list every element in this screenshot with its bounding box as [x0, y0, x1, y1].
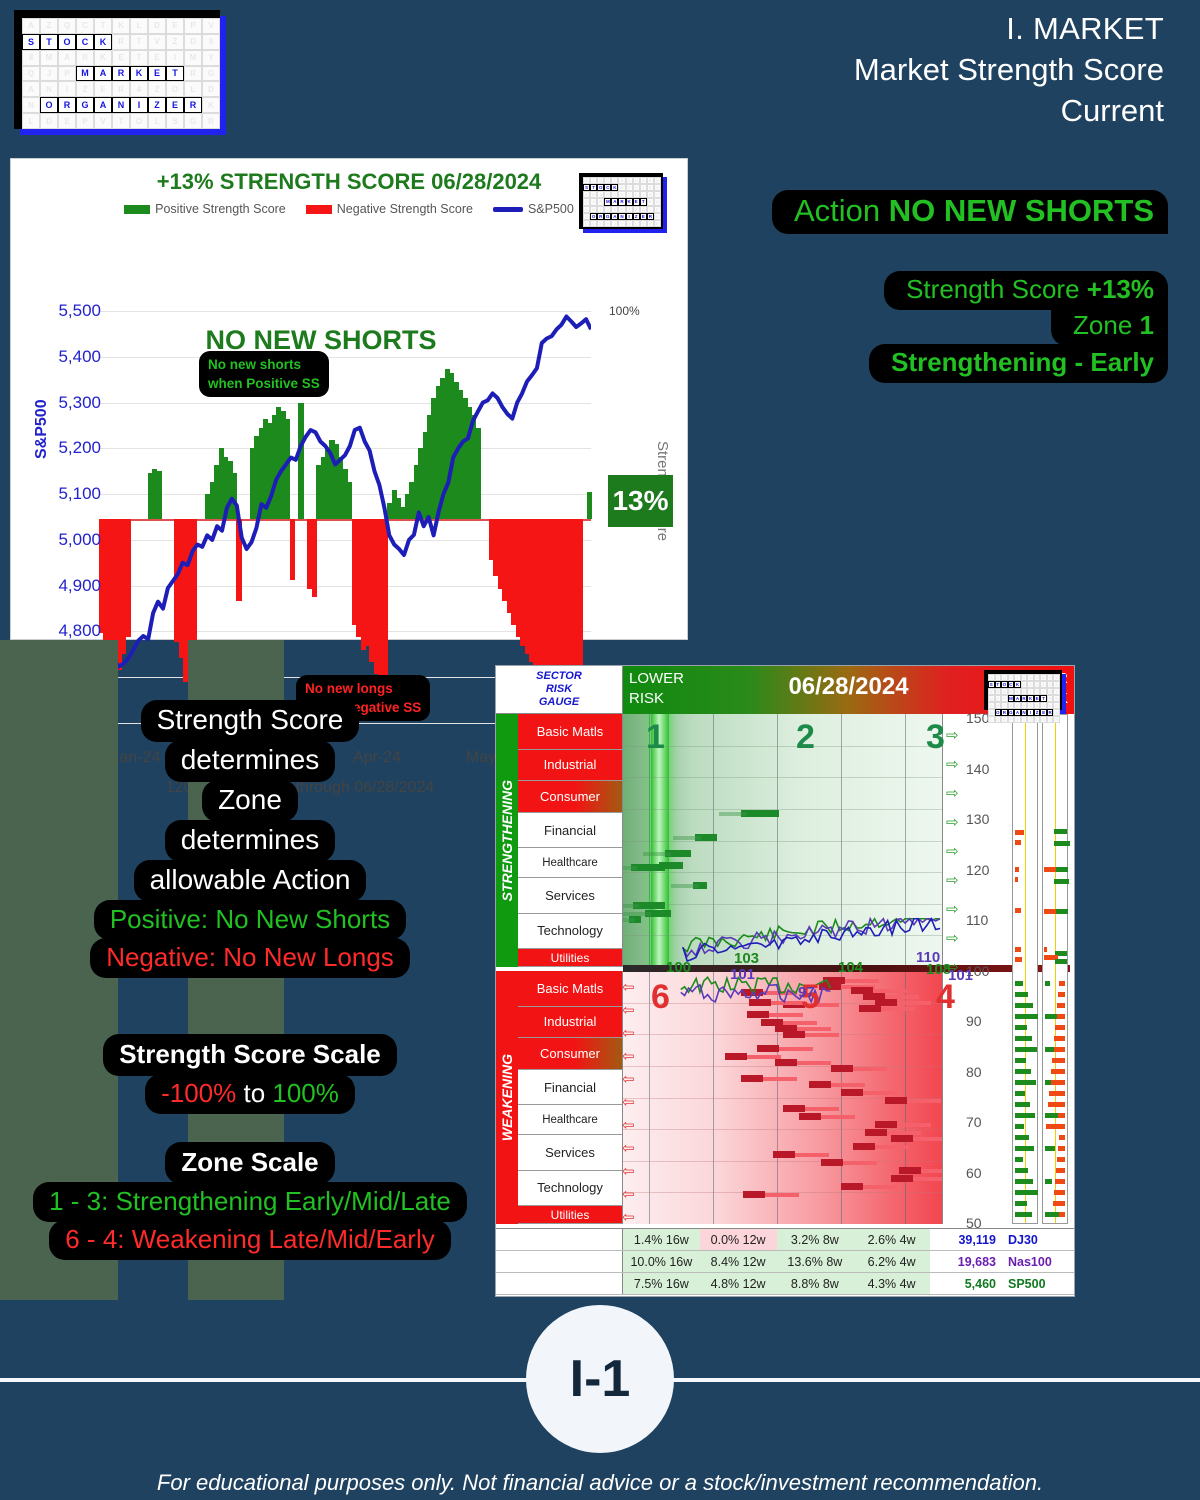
- logo-cell: T: [130, 34, 148, 50]
- logo-cell: 9: [654, 184, 661, 191]
- gauge-mini-bar: [1059, 1135, 1065, 1140]
- logo-cell: M: [184, 50, 202, 66]
- gauge-mini-bar: [1054, 829, 1067, 834]
- logo-cell: T: [611, 177, 618, 184]
- logo-cell: E: [58, 113, 76, 129]
- gauge-mini-bar: [1015, 1190, 1038, 1195]
- gauge-sector-label: Utilities: [518, 1206, 623, 1224]
- gauge-index-lines-bottom: [623, 971, 942, 1224]
- logo-cell: R: [184, 97, 202, 113]
- gauge-mini-bar: [1048, 1102, 1065, 1107]
- chart-y2-tick: 100%: [609, 304, 640, 318]
- chart-y-tick: 5,500: [31, 301, 101, 321]
- logo-cell: M: [40, 50, 58, 66]
- logo-cell: Q: [58, 18, 76, 34]
- logo-cell: K: [611, 184, 618, 191]
- logo-cell: T: [590, 184, 597, 191]
- gauge-mini-bar: [1044, 947, 1047, 952]
- logo-cell: N: [40, 81, 58, 97]
- gauge-mini-bar: [1015, 867, 1019, 872]
- strength-score-label: Strength Score: [906, 274, 1079, 304]
- logo-cell: R: [618, 184, 625, 191]
- logo-cell: A: [94, 66, 112, 82]
- logo-cell: 9: [202, 34, 220, 50]
- page-title: Market Strength Score: [854, 49, 1164, 90]
- gauge-table-cell: 4.3% 4w: [853, 1273, 930, 1294]
- gauge-arrow-right-icon: ⇨: [946, 844, 959, 859]
- logo-cell: O: [597, 184, 604, 191]
- gauge-mini-gridline: [1055, 715, 1056, 1223]
- gauge-arrow-right-icon: ⇨: [946, 786, 959, 801]
- logo-cell: O: [590, 213, 597, 220]
- gauge-plot-weakening: [623, 971, 943, 1224]
- action-value: NO NEW SHORTS: [889, 193, 1154, 228]
- ss-scale-title: Strength Score Scale: [103, 1034, 397, 1076]
- gauge-table-cell: 8.8% 8w: [777, 1273, 854, 1294]
- logo-cell: D: [184, 34, 202, 50]
- logo-cell: E: [94, 81, 112, 97]
- gauge-table-cell: 8.4% 12w: [700, 1251, 777, 1272]
- logo-cell: D: [148, 18, 166, 34]
- logo-cell: R: [76, 50, 94, 66]
- chart-y-tick: 4,800: [31, 621, 101, 641]
- positive-rule-prefix: Positive:: [110, 904, 216, 934]
- logo-cell: Z: [148, 81, 166, 97]
- gauge-sector-label: Financial: [518, 1070, 623, 1106]
- gauge-table-row: 10.0% 16w8.4% 12w13.6% 8w6.2% 4w19,683Na…: [496, 1251, 1074, 1273]
- gauge-inline-value: 101: [948, 967, 973, 984]
- logo-cell: A: [597, 191, 604, 198]
- gauge-mini-bar: [1054, 1036, 1065, 1041]
- negative-rule-prefix: Negative:: [106, 942, 223, 972]
- logo-cell: E: [597, 220, 604, 227]
- gauge-table-cell: 3.2% 8w: [777, 1229, 854, 1250]
- logo-cell: Q: [597, 177, 604, 184]
- logo-cell: G: [184, 113, 202, 129]
- logo-cell: G: [647, 220, 654, 227]
- logo-cell: Z: [166, 34, 184, 50]
- gauge-arrow-left-icon: ⇦: [622, 980, 635, 995]
- logo-cell: Y: [654, 191, 661, 198]
- logo-cell: G: [202, 66, 220, 82]
- gauge-axis-tick: 70: [966, 1114, 982, 1130]
- logo-cell: Z: [633, 213, 640, 220]
- gauge-corner-line1: SECTOR: [536, 670, 582, 683]
- logo-cell: R: [58, 97, 76, 113]
- logo-cell: C: [604, 184, 611, 191]
- logo-cell: T: [40, 34, 58, 50]
- gauge-mini-bar: [1056, 867, 1068, 872]
- logo-cell: 8: [583, 191, 590, 198]
- logo-cell: D: [202, 81, 220, 97]
- legend-label-negative: Negative Strength Score: [337, 202, 473, 216]
- gauge-zone-number: 1: [646, 718, 665, 757]
- logo-cell: V: [633, 184, 640, 191]
- gauge-mini-bar: [1015, 1168, 1028, 1173]
- header-section: I. MARKET: [854, 8, 1164, 49]
- logo-cell: 4: [130, 81, 148, 97]
- logo-cell: K: [654, 213, 661, 220]
- logo-cell: L: [148, 113, 166, 129]
- gauge-arrow-right-icon: ⇨: [946, 902, 959, 917]
- logo-cell: T: [640, 198, 647, 205]
- logo-cell: T: [130, 50, 148, 66]
- gauge-axis-tick: 130: [966, 811, 989, 827]
- logo-cell: I: [166, 50, 184, 66]
- gauge-index-value: 39,119: [930, 1229, 1002, 1250]
- gauge-sector-label: Utilities: [518, 949, 623, 967]
- logo-cell: K: [611, 191, 618, 198]
- logo-cell: Z: [148, 97, 166, 113]
- positive-rule-value: No New Shorts: [215, 904, 390, 934]
- logo-cell: Z: [633, 206, 640, 213]
- positive-rule: Positive: No New Shorts: [94, 900, 406, 940]
- gauge-index-value: 5,460: [930, 1273, 1002, 1294]
- logo-cell: O: [640, 206, 647, 213]
- gauge-arrow-left-icon: ⇦: [622, 1118, 635, 1133]
- logo-cell: E: [611, 206, 618, 213]
- negative-rule-value: No New Longs: [223, 942, 394, 972]
- gauge-table-spacer: [496, 1229, 623, 1250]
- gauge-arrow-left-icon: ⇦: [622, 1141, 635, 1156]
- gauge-arrow-left-icon: ⇦: [622, 1210, 635, 1225]
- gauge-arrow-left-icon: ⇦: [622, 1026, 635, 1041]
- gauge-mini-bar: [1015, 1047, 1037, 1052]
- chart-y-tick: 5,000: [31, 530, 101, 550]
- gauge-sector-label: Consumer: [518, 1038, 623, 1070]
- logo-cell: Q: [22, 66, 40, 82]
- info-column: Strength Score determines Zone determine…: [0, 700, 500, 1258]
- disclaimer-text: For educational purposes only. Not finan…: [0, 1470, 1200, 1496]
- gauge-mini-bar: [1015, 1113, 1035, 1118]
- logo-cell: P: [58, 66, 76, 82]
- logo-cell: L: [647, 206, 654, 213]
- logo-cell: L: [130, 18, 148, 34]
- logo-cell: K: [626, 198, 633, 205]
- logo-cell: Z: [40, 18, 58, 34]
- logo-cell: Z: [590, 177, 597, 184]
- gauge-axis-tick: 140: [966, 761, 989, 777]
- gauge-mini-bar: [1046, 1124, 1065, 1129]
- logo-cell: N: [22, 97, 40, 113]
- gauge-corner-title: SECTOR RISK GAUGE: [496, 666, 623, 714]
- logo-cell: K: [130, 66, 148, 82]
- gauge-mini-bar-panels: [1012, 714, 1068, 1224]
- gauge-axis-tick: 90: [966, 1013, 982, 1029]
- gauge-mini-bar: [1015, 947, 1021, 952]
- ss-scale-max: 100%: [272, 1078, 339, 1108]
- logo-cell: J: [40, 66, 58, 82]
- gauge-table-cell: 10.0% 16w: [623, 1251, 700, 1272]
- header-subtitle: Current: [854, 90, 1164, 131]
- gauge-mini-bar: [1015, 1014, 1038, 1019]
- gauge-mini-bar: [1058, 1146, 1065, 1151]
- logo-cell: R: [112, 81, 130, 97]
- logo-cell: 8: [22, 50, 40, 66]
- gauge-index-lines-top: [623, 714, 942, 967]
- logo-cell: I: [626, 213, 633, 220]
- gauge-inline-value: 100: [666, 959, 691, 976]
- gauge-mini-bar: [1045, 1179, 1052, 1184]
- logo-cell: R: [618, 198, 625, 205]
- gauge-mini-bar: [1056, 1168, 1065, 1173]
- gauge-mini-bar: [1049, 1091, 1065, 1096]
- logo-cell: Y: [202, 50, 220, 66]
- chart-mini-logo: AZQCTKLDEPVSTOCKRTVZD98MARKETEIMYQJPMARK…: [579, 173, 671, 235]
- gauge-mini-bar: [1015, 840, 1021, 845]
- gauge-mini-bar: [1056, 1014, 1065, 1019]
- logo-cell: R: [604, 191, 611, 198]
- logo-cell: I: [58, 81, 76, 97]
- gauge-mini-bar: [1053, 1201, 1065, 1206]
- gauge-arrow-left-icon: ⇦: [622, 1164, 635, 1179]
- logo-cell: C: [76, 18, 94, 34]
- gauge-mini-bar: [1015, 1080, 1036, 1085]
- gauge-sector-label: Financial: [518, 813, 623, 849]
- logo-cell: T: [626, 184, 633, 191]
- logo-cell: Z: [76, 81, 94, 97]
- gauge-band-strengthening: STRENGTHENING: [496, 714, 518, 967]
- gauge-arrow-left-icon: ⇦: [622, 1095, 635, 1110]
- gauge-sector-label: Services: [518, 878, 623, 914]
- chart-y-tick: 5,100: [31, 484, 101, 504]
- logo-cell: V: [202, 18, 220, 34]
- gauge-inline-value: 104: [838, 959, 863, 976]
- gauge-arrow-left-icon: ⇦: [622, 1187, 635, 1202]
- gauge-mini-bar: [1015, 1124, 1024, 1129]
- logo-cell: E: [618, 191, 625, 198]
- chart-y-tick: 5,300: [31, 393, 101, 413]
- logo-cell: Q: [583, 198, 590, 205]
- gauge-mini-panel-right: [1042, 714, 1068, 1224]
- callout-green-line1: No new shorts: [208, 355, 320, 374]
- gauge-mini-bar: [1055, 1025, 1065, 1030]
- logo-cell: O: [130, 113, 148, 129]
- gauge-band-strengthening-label: STRENGTHENING: [499, 780, 515, 901]
- gauge-mini-bar: [1015, 877, 1018, 882]
- logo-cell: E: [640, 213, 647, 220]
- logo-cell: D: [1053, 702, 1060, 709]
- gauge-sector-label: Technology: [518, 914, 623, 950]
- logo-cell: 9: [1053, 681, 1060, 688]
- gauge-mini-bar: [1054, 1190, 1065, 1195]
- logo-cell: Y: [1053, 688, 1060, 695]
- logo-cell: A: [611, 198, 618, 205]
- ss-scale-sep: to: [236, 1078, 272, 1108]
- logo-cell: R: [112, 34, 130, 50]
- logo-cell: A: [22, 18, 40, 34]
- gauge-index-name: SP500: [1002, 1273, 1074, 1294]
- mini-logo-grid: AZQCTKLDEPVSTOCKRTVZD98MARKETEIMYQJPMARK…: [583, 177, 661, 227]
- gauge-mini-panel-left: [1012, 714, 1038, 1224]
- logo-cell: K: [1053, 709, 1060, 716]
- logo-cell: P: [76, 113, 94, 129]
- gauge-table-cell: 6.2% 4w: [853, 1251, 930, 1272]
- logo-cell: T: [626, 191, 633, 198]
- logo-cell: R: [597, 213, 604, 220]
- gauge-zone-number: 2: [796, 718, 815, 757]
- gauge-mini-bar: [1015, 957, 1022, 962]
- gauge-stats-table: 1.4% 16w0.0% 12w3.2% 8w2.6% 4w39,119DJ30…: [496, 1228, 1074, 1296]
- gauge-table-spacer: [496, 1273, 623, 1294]
- logo-cell: L: [22, 113, 40, 129]
- logo-cell: O: [626, 220, 633, 227]
- gauge-mini-bar: [1015, 908, 1021, 913]
- strength-score-value: +13%: [1087, 274, 1154, 304]
- logo-cell: E: [112, 50, 130, 66]
- gauge-mini-bar: [1015, 981, 1023, 986]
- legend-label-positive: Positive Strength Score: [155, 202, 286, 216]
- logo-cell: V: [611, 220, 618, 227]
- gauge-arrow-left-icon: ⇦: [622, 1003, 635, 1018]
- gauge-mini-bar: [1015, 1201, 1027, 1206]
- gauge-inline-value: 103: [734, 950, 759, 967]
- logo-cell: R: [618, 206, 625, 213]
- logo-cell: C: [604, 177, 611, 184]
- logo-cell: V: [654, 177, 661, 184]
- logo-cell: E: [633, 191, 640, 198]
- legend-item-positive: Positive Strength Score: [124, 202, 286, 216]
- info-line-3: Zone: [202, 780, 298, 822]
- gauge-axis-tick: 80: [966, 1064, 982, 1080]
- gauge-index-name: DJ30: [1002, 1229, 1074, 1250]
- logo-cell: G: [604, 213, 611, 220]
- logo-cell: M: [590, 191, 597, 198]
- gauge-mini-logo-frame: AZQCTKLDEPVSTOCKRTVZD98MARKETEIMYQJPMARK…: [984, 670, 1062, 710]
- gauge-sector-label: Healthcare: [518, 1105, 623, 1135]
- logo-cell: R: [202, 113, 220, 129]
- chart-y-tick: 5,400: [31, 347, 101, 367]
- logo-cell: R: [112, 66, 130, 82]
- logo-cell: T: [618, 220, 625, 227]
- gauge-arrow-right-icon: ⇨: [946, 931, 959, 946]
- gauge-arrow-right-icon: ⇨: [946, 728, 959, 743]
- gauge-mini-bar: [1015, 1179, 1033, 1184]
- gauge-table-cell: 0.0% 12w: [700, 1229, 777, 1250]
- logo-cell: 4: [626, 206, 633, 213]
- logo-cell: O: [58, 34, 76, 50]
- logo-cell: S: [583, 184, 590, 191]
- gauge-sector-labels-top: Basic MatlsIndustrialConsumerFinancialHe…: [518, 714, 623, 967]
- logo-crossword-grid: AZQCTKLDEPVSTOCKRTVZD98MARKETEIMYQJPMARK…: [22, 18, 220, 129]
- logo-cell: N: [618, 213, 625, 220]
- logo-cell: K: [618, 177, 625, 184]
- gauge-mini-bar: [1058, 992, 1065, 997]
- gauge-arrow-right-icon: ⇨: [946, 815, 959, 830]
- gauge-mini-bar: [1015, 1091, 1025, 1096]
- gauge-mini-bar: [1015, 992, 1028, 997]
- logo-cell: K: [112, 18, 130, 34]
- negative-rule: Negative: No New Longs: [90, 938, 410, 978]
- gauge-mini-bar: [1050, 1080, 1065, 1085]
- gauge-plot-strengthening: [623, 714, 943, 967]
- logo-cell: A: [22, 81, 40, 97]
- gauge-sector-label: Healthcare: [518, 848, 623, 878]
- logo-cell: L: [583, 220, 590, 227]
- logo-cell: E: [633, 198, 640, 205]
- gauge-sector-label: Basic Matls: [518, 971, 623, 1007]
- gauge-mini-bar: [1015, 1146, 1034, 1151]
- zone-scale-title: Zone Scale: [165, 1142, 334, 1184]
- logo-cell: P: [184, 18, 202, 34]
- logo-cell: D: [654, 206, 661, 213]
- logo-cell: R: [654, 220, 661, 227]
- chart-y-tick: 4,900: [31, 576, 101, 596]
- page-header: I. MARKET Market Strength Score Current: [854, 8, 1164, 131]
- gauge-corner-line2: RISK: [546, 683, 572, 696]
- action-panel: Action NO NEW SHORTS Strength Score +13%…: [698, 190, 1168, 382]
- zone-scale-weakening: 6 - 4: Weakening Late/Mid/Early: [49, 1220, 450, 1260]
- gauge-table-row: 1.4% 16w0.0% 12w3.2% 8w2.6% 4w39,119DJ30: [496, 1229, 1074, 1251]
- logo-cell: Z: [604, 206, 611, 213]
- gauge-mini-bar: [1015, 1069, 1031, 1074]
- logo-cell: P: [647, 177, 654, 184]
- logo-cell: I: [130, 97, 148, 113]
- ss-scale-range: -100% to 100%: [145, 1074, 355, 1114]
- logo-cell: P: [604, 220, 611, 227]
- logo-cell: K: [94, 50, 112, 66]
- gauge-sector-label: Basic Matls: [518, 714, 623, 750]
- chart-score-badge: 13%: [608, 475, 673, 527]
- gauge-mini-bar: [1045, 1080, 1051, 1085]
- logo-cell: O: [166, 81, 184, 97]
- gauge-table-spacer: [496, 1251, 623, 1272]
- gauge-axis-tick: 120: [966, 862, 989, 878]
- logo-cell: I: [640, 191, 647, 198]
- logo-cell: A: [94, 97, 112, 113]
- gauge-band-weakening-label: WEAKENING: [499, 1054, 515, 1141]
- logo-cell: O: [40, 97, 58, 113]
- logo-cell: K: [202, 97, 220, 113]
- logo-cell: S: [640, 220, 647, 227]
- gauge-axis-tick: 60: [966, 1165, 982, 1181]
- logo-cell: G: [1053, 695, 1060, 702]
- logo-cell: E: [640, 177, 647, 184]
- gauge-inline-value: 97: [798, 984, 815, 1001]
- gauge-mini-bar: [1052, 1058, 1065, 1063]
- callout-green-line2: when Positive SS: [208, 374, 320, 393]
- logo-cell: T: [94, 18, 112, 34]
- gauge-zone-number: 3: [926, 718, 945, 757]
- logo-cell: A: [611, 213, 618, 220]
- zone-scale-strengthening: 1 - 3: Strengthening Early/Mid/Late: [33, 1182, 467, 1222]
- logo-cell: K: [94, 34, 112, 50]
- gauge-arrow-left-icon: ⇦: [622, 1049, 635, 1064]
- chart-y-tick: 5,200: [31, 438, 101, 458]
- callout-no-new-shorts: No new shorts when Positive SS: [199, 351, 329, 397]
- legend-swatch-negative: [306, 205, 332, 214]
- gauge-sector-label: Services: [518, 1135, 623, 1171]
- strength-score-chart-card: +13% STRENGTH SCORE 06/28/2024 Positive …: [10, 158, 688, 640]
- logo-cell: L: [633, 220, 640, 227]
- gauge-inline-value: 101: [730, 966, 755, 983]
- logo-cell: N: [583, 213, 590, 220]
- logo-cell: A: [583, 206, 590, 213]
- logo-cell: E: [166, 97, 184, 113]
- gauge-table-cell: 1.4% 16w: [623, 1229, 700, 1250]
- logo-cell: Z: [640, 184, 647, 191]
- logo-cell: R: [1053, 716, 1060, 723]
- gauge-mini-bar: [1045, 1146, 1055, 1151]
- logo-cell: R: [647, 198, 654, 205]
- gauge-table-row: 7.5% 16w4.8% 12w8.8% 8w4.3% 4w5,460SP500: [496, 1273, 1074, 1295]
- logo-cell: R: [647, 213, 654, 220]
- gauge-mini-bar: [1045, 1047, 1054, 1052]
- gauge-mini-bar: [1057, 1157, 1065, 1162]
- logo-cell: M: [76, 66, 94, 82]
- logo-cell: D: [633, 177, 640, 184]
- gauge-mini-bar: [1054, 841, 1070, 846]
